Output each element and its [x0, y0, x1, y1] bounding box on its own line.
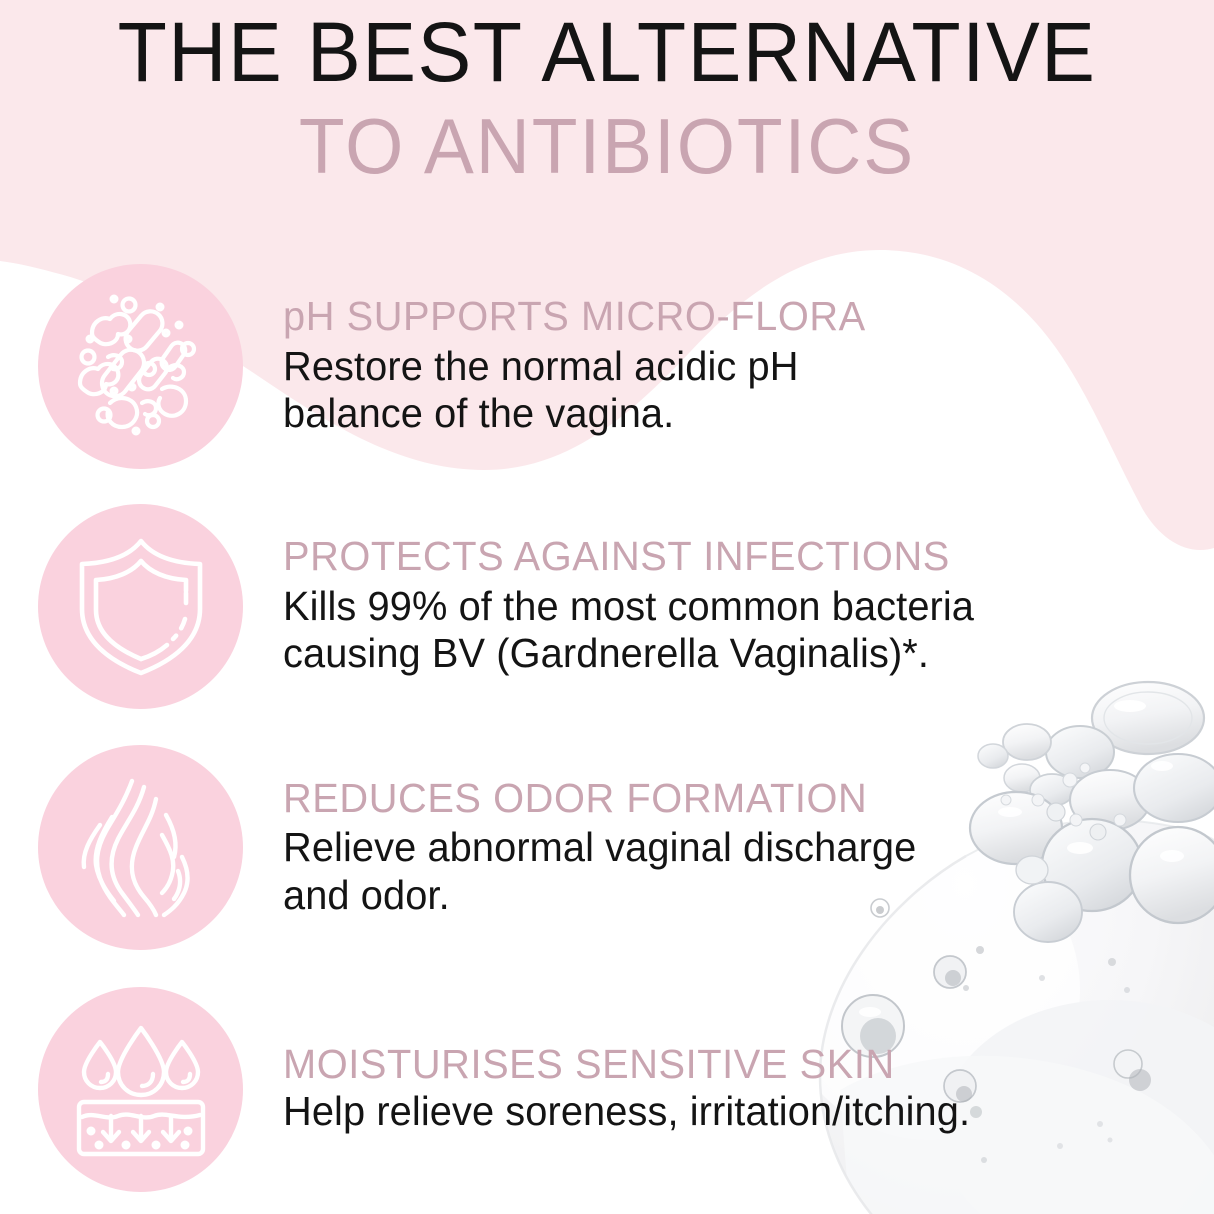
feature-title: MOISTURISES SENSITIVE SKIN: [283, 1042, 1176, 1086]
feature-row-protects-against-infections: PROTECTS AGAINST INFECTIONS Kills 99% of…: [0, 486, 1214, 726]
feature-row-ph-supports-micro-flora: pH SUPPORTS MICRO-FLORA Restore the norm…: [0, 246, 1214, 486]
feature-text-block: PROTECTS AGAINST INFECTIONS Kills 99% of…: [283, 534, 1214, 677]
feature-text-block: MOISTURISES SENSITIVE SKIN Help relieve …: [283, 1042, 1214, 1136]
feature-body: Relieve abnormal vaginal discharge and o…: [283, 824, 1176, 919]
feature-row-moisturises-sensitive-skin: MOISTURISES SENSITIVE SKIN Help relieve …: [0, 969, 1214, 1209]
feature-body: Help relieve soreness, irritation/itchin…: [283, 1088, 1176, 1136]
feature-title: pH SUPPORTS MICRO-FLORA: [283, 294, 1176, 338]
droplets-skin-hydration-icon: [38, 987, 243, 1192]
feature-text-block: REDUCES ODOR FORMATION Relieve abnormal …: [283, 776, 1214, 919]
feature-row-reduces-odor-formation: REDUCES ODOR FORMATION Relieve abnormal …: [0, 726, 1214, 969]
feature-title: PROTECTS AGAINST INFECTIONS: [283, 534, 1176, 578]
feature-body: Restore the normal acidic pH balance of …: [283, 343, 1176, 438]
page-subtitle: TO ANTIBIOTICS: [24, 107, 1189, 185]
odor-waves-icon: [38, 745, 243, 950]
header: THE BEST ALTERNATIVE TO ANTIBIOTICS: [0, 0, 1214, 185]
feature-title: REDUCES ODOR FORMATION: [283, 776, 1176, 820]
feature-list: pH SUPPORTS MICRO-FLORA Restore the norm…: [0, 246, 1214, 1209]
shield-icon: [38, 504, 243, 709]
infographic-canvas: THE BEST ALTERNATIVE TO ANTIBIOTICS: [0, 0, 1214, 1214]
feature-text-block: pH SUPPORTS MICRO-FLORA Restore the norm…: [283, 294, 1214, 437]
bacteria-microbe-icon: [38, 264, 243, 469]
page-title: THE BEST ALTERNATIVE: [24, 12, 1189, 93]
feature-body: Kills 99% of the most common bacteria ca…: [283, 583, 1176, 678]
